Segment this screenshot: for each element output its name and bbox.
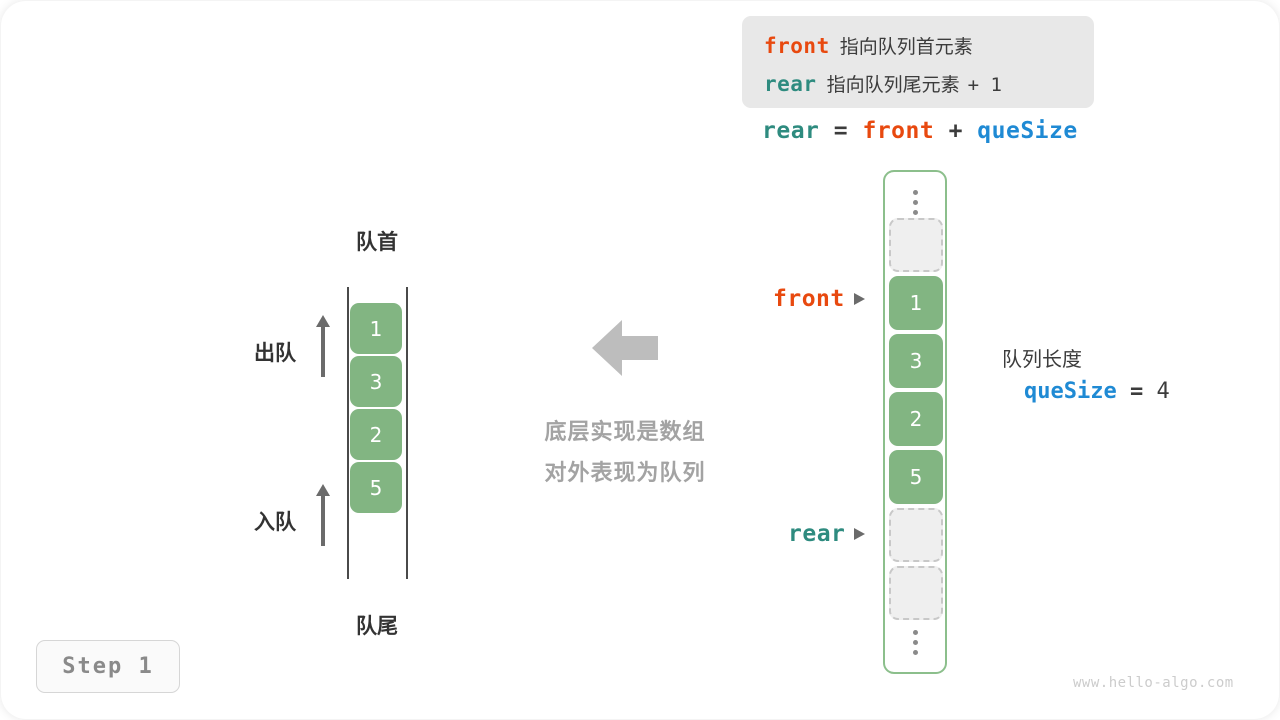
right-arrowhead-icon [854, 528, 865, 540]
formula-rear: rear [762, 118, 819, 144]
queue-cell-0: 1 [350, 303, 402, 354]
array-cell-empty-rear [889, 508, 943, 562]
center-caption-line-1: 底层实现是数组 [500, 414, 750, 446]
enqueue-label: 入队 [254, 506, 296, 536]
quesize-value-line: queSize = 4 [1024, 379, 1170, 404]
queue-rail-right [406, 287, 408, 579]
formula-front: front [862, 118, 934, 144]
array-cell-empty-bottom [889, 566, 943, 620]
step-badge: Step 1 [36, 640, 180, 693]
left-arrow-icon [592, 320, 658, 376]
array-cell-3: 5 [889, 450, 943, 504]
array-cell-0: 1 [889, 276, 943, 330]
vertical-ellipsis-icon-top [885, 185, 945, 215]
legend-rear-suffix: + 1 [960, 74, 1002, 96]
enqueue-up-arrow-icon [316, 484, 330, 546]
legend-rear-keyword: rear [764, 72, 817, 96]
front-pointer-text: front [773, 286, 845, 312]
queue-cell-value: 5 [370, 476, 383, 500]
array-cell-value: 5 [910, 465, 923, 489]
legend-front-description: 指向队列首元素 [830, 36, 973, 58]
legend-row-rear: rear指向队列尾元素+ 1 [764, 71, 1002, 98]
queue-rail-left [347, 287, 349, 579]
quesize-title: 队列长度 [1002, 343, 1082, 372]
rear-pointer-label: rear [788, 521, 865, 547]
pointer-legend-box: front指向队列首元素 rear指向队列尾元素+ 1 [742, 16, 1094, 108]
formula-equals: = [834, 118, 848, 144]
formula-quesize: queSize [977, 118, 1077, 144]
array-cell-2: 2 [889, 392, 943, 446]
watermark: www.hello-algo.com [1073, 675, 1234, 691]
legend-row-front: front指向队列首元素 [764, 33, 973, 60]
queue-cell-3: 5 [350, 462, 402, 513]
quesize-number: 4 [1156, 379, 1169, 404]
array-cell-value: 1 [910, 291, 923, 315]
queue-cell-value: 3 [370, 370, 383, 394]
array-container: 1 3 2 5 [883, 170, 947, 674]
diagram-canvas: front指向队列首元素 rear指向队列尾元素+ 1 rear = front… [0, 0, 1280, 720]
vertical-ellipsis-icon-bottom [885, 625, 945, 655]
queue-tail-label: 队尾 [347, 610, 407, 640]
array-cell-value: 2 [910, 407, 923, 431]
queue-head-label: 队首 [347, 226, 407, 256]
dequeue-label: 出队 [254, 337, 296, 367]
array-cell-empty-top [889, 218, 943, 272]
center-caption-line-2: 对外表现为队列 [500, 455, 750, 487]
queue-cell-value: 2 [370, 423, 383, 447]
legend-front-keyword: front [764, 34, 830, 58]
rear-formula: rear = front + queSize [762, 118, 1078, 144]
rear-pointer-text: rear [788, 521, 845, 547]
dequeue-up-arrow-icon [316, 315, 330, 377]
formula-plus: + [949, 118, 963, 144]
queue-cell-value: 1 [370, 317, 383, 341]
quesize-name: queSize [1024, 379, 1117, 404]
legend-rear-description: 指向队列尾元素 [817, 74, 960, 96]
queue-cell-1: 3 [350, 356, 402, 407]
quesize-equals: = [1130, 379, 1143, 404]
array-cell-value: 3 [910, 349, 923, 373]
right-arrowhead-icon [854, 293, 865, 305]
array-cell-1: 3 [889, 334, 943, 388]
queue-cell-2: 2 [350, 409, 402, 460]
front-pointer-label: front [773, 286, 865, 312]
